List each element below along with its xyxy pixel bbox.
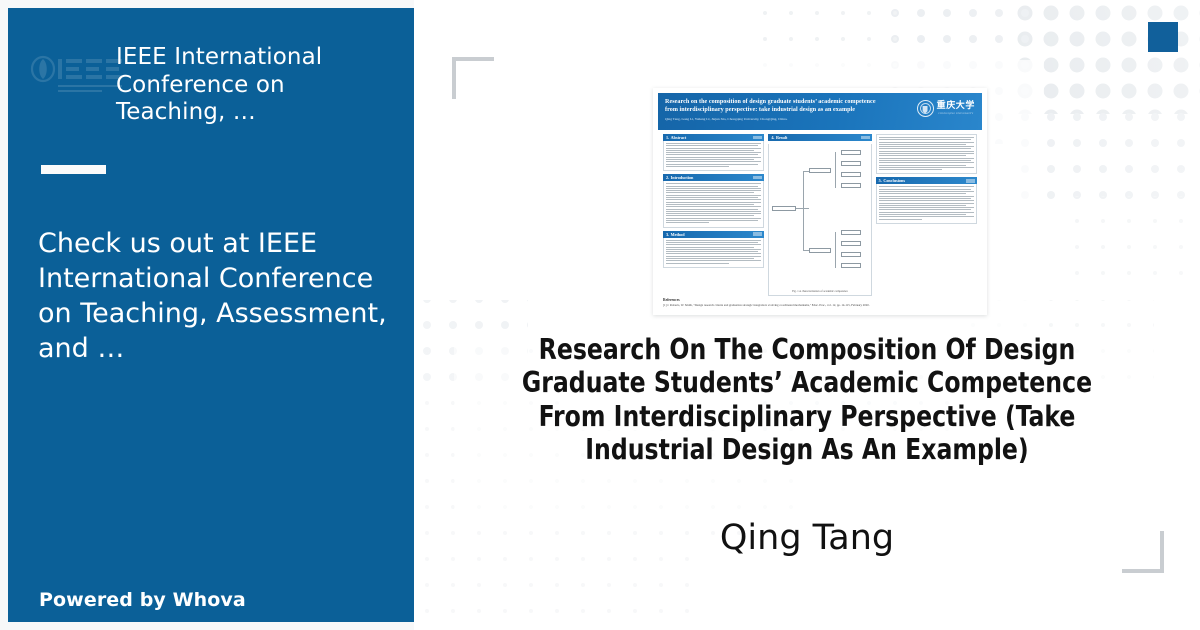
- poster-authors: Qing Tang, Gang Li, Yuhang LI, Jiejun Xi…: [665, 117, 885, 121]
- event-branding-panel: IEEE International Conference on Teachin…: [8, 8, 414, 622]
- tree-leaf-node: [841, 263, 861, 268]
- section-number: 2.: [666, 175, 669, 180]
- figure-caption: Fig. 1 A characterization of academic co…: [769, 290, 870, 293]
- poster-section-introduction: 2. Introduction: [663, 174, 764, 227]
- page-title: Research On The Composition Of Design Gr…: [497, 333, 1117, 466]
- call-to-action-text: Check us out at IEEE International Confe…: [38, 226, 394, 366]
- event-name: IEEE International Conference on Teachin…: [116, 44, 398, 127]
- tree-leaf-node: [841, 230, 861, 235]
- poster-columns: 1. Abstract: [658, 130, 982, 296]
- section-text: [663, 181, 764, 227]
- tree-leaf-node: [841, 252, 861, 257]
- university-name-cn: 重庆大学: [937, 102, 975, 111]
- tree-leaf-node: [841, 183, 861, 188]
- poster-column-middle: 4. Result: [768, 134, 871, 296]
- section-label: Introduction: [671, 175, 694, 180]
- section-label: Conclusions: [883, 178, 905, 183]
- section-header: 5. Conclusions: [876, 177, 977, 184]
- section-text: [663, 141, 764, 171]
- paper-preview-panel: Research on the composition of design gr…: [414, 0, 1200, 630]
- section-header: 2. Introduction: [663, 174, 764, 181]
- poster-column-right: 5. Conclusions: [876, 134, 977, 296]
- university-seal-icon: [917, 100, 934, 117]
- poster-title: Research on the composition of design gr…: [665, 98, 880, 114]
- corner-bracket-top-left-icon: [452, 57, 494, 99]
- poster-section-conclusions: 5. Conclusions: [876, 177, 977, 223]
- author-name: Qing Tang: [470, 518, 1144, 558]
- section-header: 3. Method: [663, 231, 764, 238]
- section-number: 4.: [771, 135, 774, 140]
- section-header: 1. Abstract: [663, 134, 764, 141]
- tree-leaf-node: [841, 172, 861, 177]
- poster-references: References [1] J. Roberts, W. Smith, "De…: [658, 296, 982, 307]
- section-label: Abstract: [671, 135, 687, 140]
- references-label: References: [663, 298, 977, 302]
- poster-section-abstract: 1. Abstract: [663, 134, 764, 171]
- section-number: 3.: [666, 232, 669, 237]
- poster-thumbnail[interactable]: Research on the composition of design gr…: [653, 88, 987, 315]
- results-table: [876, 134, 977, 174]
- competence-tree-diagram: Fig. 1 A characterization of academic co…: [768, 144, 871, 296]
- poster-column-left: 1. Abstract: [663, 134, 764, 296]
- blue-square-accent: [1148, 22, 1178, 52]
- university-name-latin: CHONGQING UNIVERSITY: [937, 112, 975, 115]
- tree-leaf-node: [841, 241, 861, 246]
- section-label: Result: [776, 135, 787, 140]
- poster-page: Research on the composition of design gr…: [658, 93, 982, 307]
- share-card-canvas: IEEE International Conference on Teachin…: [0, 0, 1200, 630]
- chongqing-university-logo: 重庆大学 CHONGQING UNIVERSITY: [917, 100, 975, 117]
- tree-branch-node: [809, 248, 831, 253]
- powered-by-whova-label: Powered by Whova: [39, 589, 246, 611]
- tree-leaf-node: [841, 150, 861, 155]
- section-text: [876, 184, 977, 223]
- ieee-logo-watermark: [30, 52, 126, 98]
- section-text: [663, 238, 764, 268]
- section-number: 5.: [879, 178, 882, 183]
- tree-branch-node: [809, 168, 831, 173]
- section-header: 4. Result: [768, 134, 871, 141]
- poster-header: Research on the composition of design gr…: [658, 93, 982, 130]
- tree-leaf-node: [841, 161, 861, 166]
- section-number: 1.: [666, 135, 669, 140]
- horizontal-rule-divider: [41, 165, 106, 174]
- tree-root-node: [772, 206, 796, 211]
- poster-section-method: 3. Method: [663, 231, 764, 268]
- section-label: Method: [671, 232, 685, 237]
